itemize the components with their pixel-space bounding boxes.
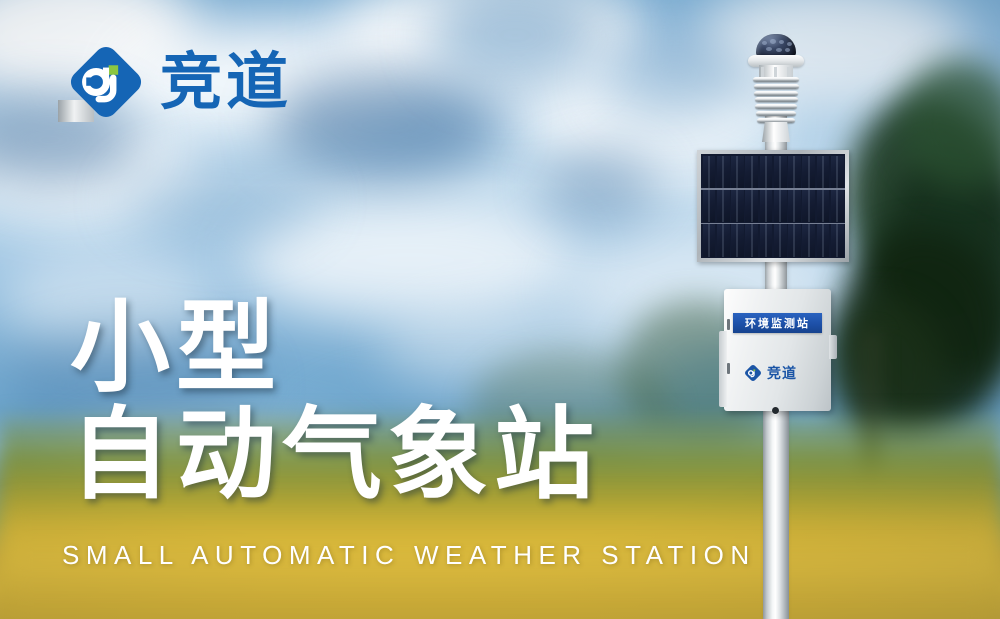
page-title: 小型 自动气象站 <box>70 294 600 508</box>
brand-name: 竞道 <box>160 51 292 113</box>
subtitle: SMALL AUTOMATIC WEATHER STATION <box>62 540 756 571</box>
headline-line-1: 小型 <box>70 294 600 401</box>
jingdao-diamond-logo-icon <box>68 44 144 120</box>
brand-logo[interactable]: 竞道 <box>68 44 292 120</box>
headline-line-2: 自动气象站 <box>70 401 600 508</box>
product-banner: 环境监测站 竞道 <box>0 0 1000 619</box>
